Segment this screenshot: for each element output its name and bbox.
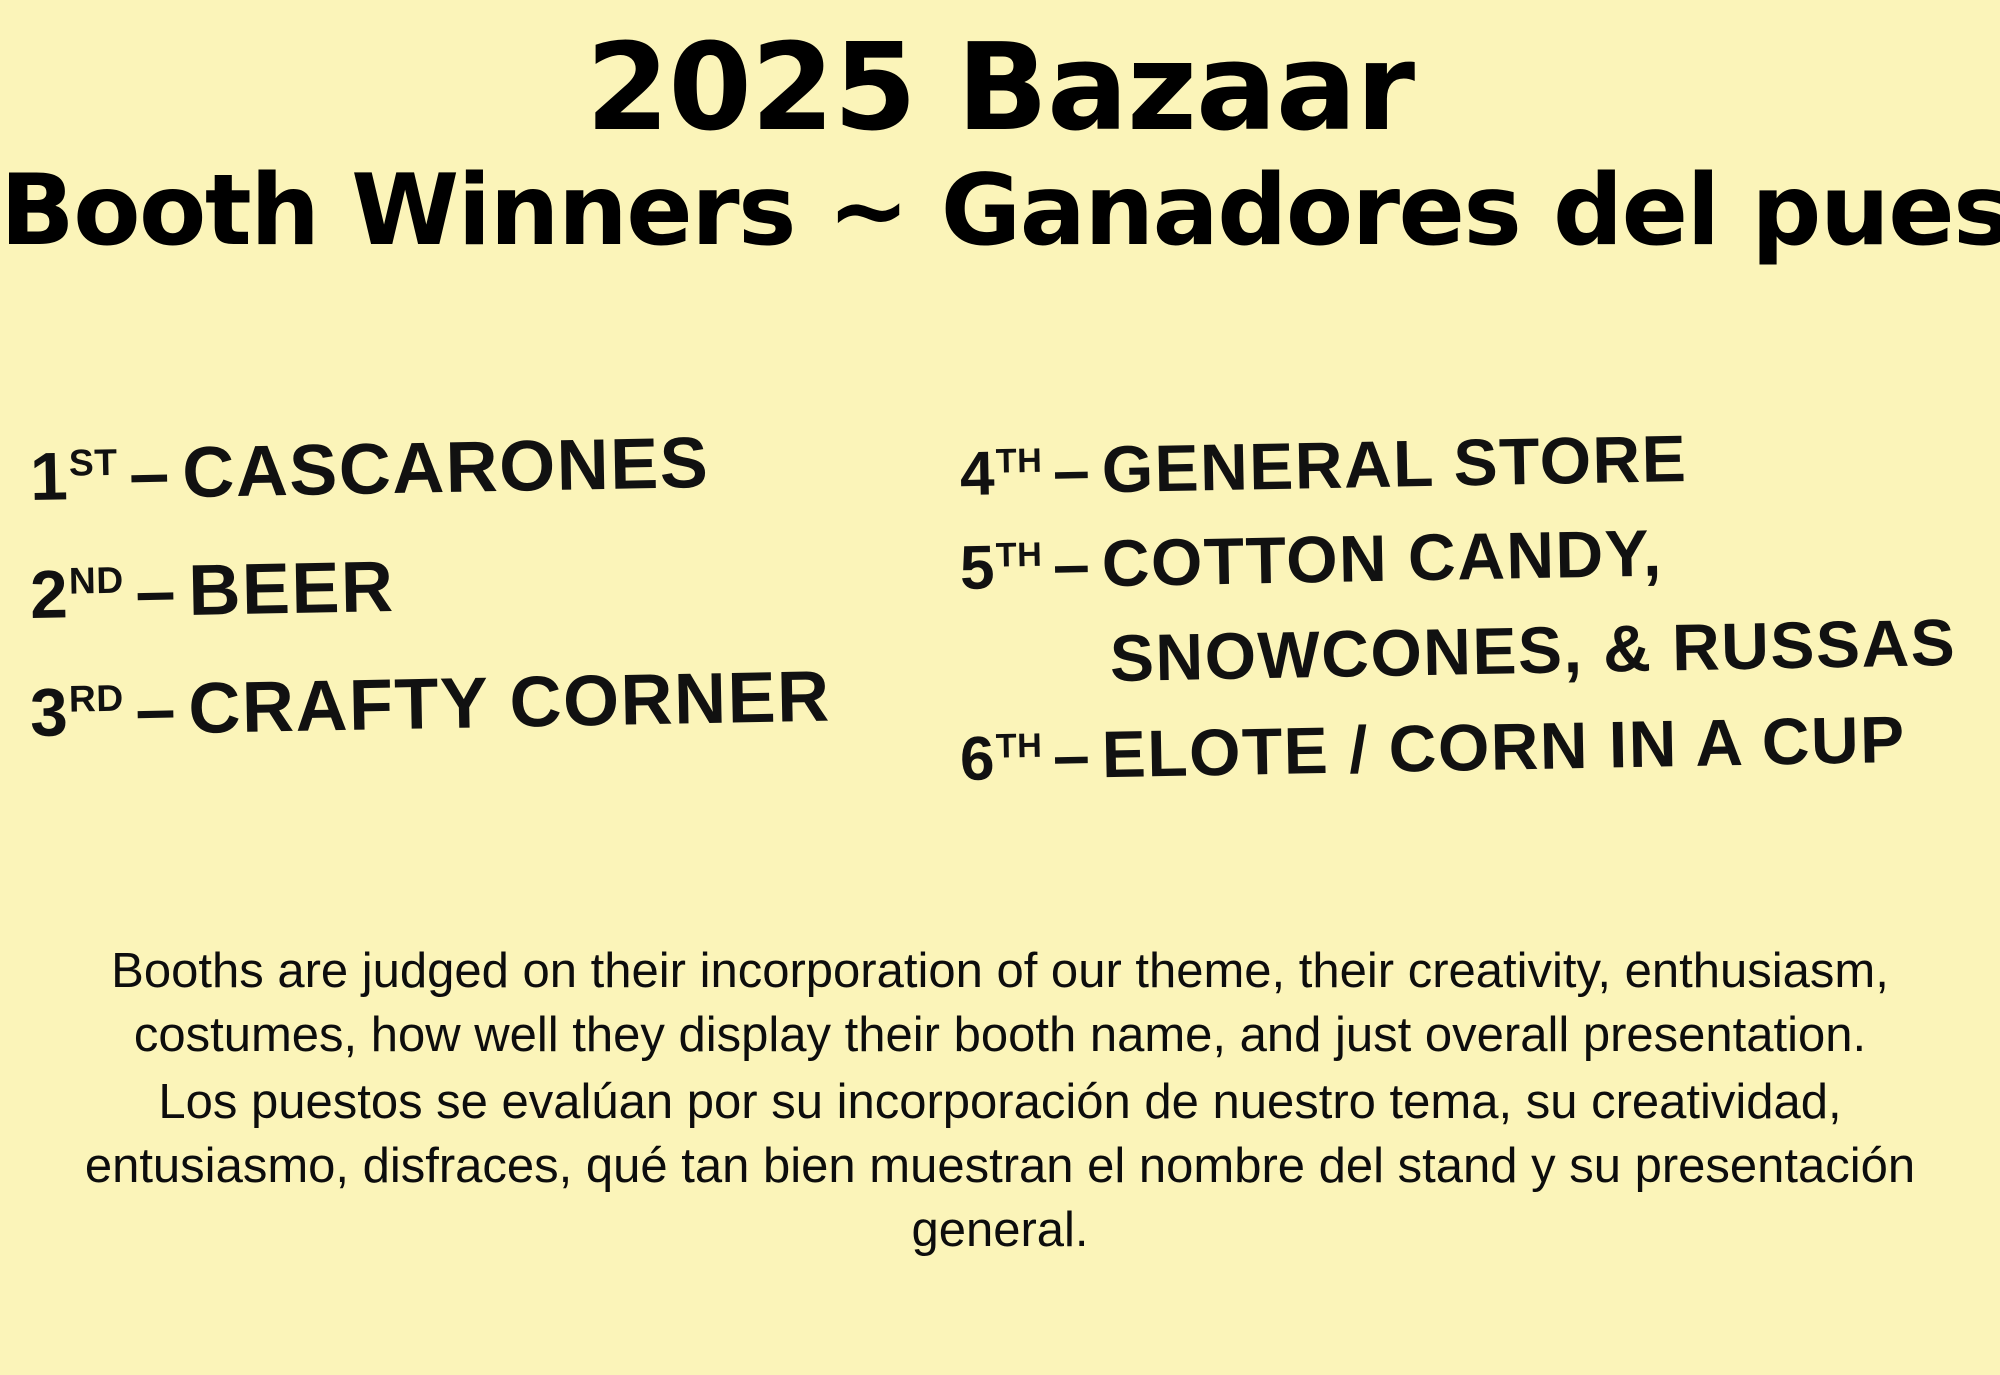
- bazaar-winners-poster: 2025 Bazaar Booth Winners ~ Ganadores de…: [0, 0, 2000, 1375]
- list-item: 5TH–COTTON CANDY,: [959, 505, 1990, 609]
- place-suffix: TH: [995, 442, 1042, 481]
- place-ordinal: 6TH: [959, 724, 1043, 795]
- poster-heading: 2025 Bazaar Booth Winners ~ Ganadores de…: [0, 0, 2000, 263]
- list-item: 1ST–CASCARONES: [29, 412, 951, 522]
- place-number: 5: [959, 534, 996, 604]
- judging-notes: Booths are judged on their incorporation…: [80, 940, 1920, 1262]
- place-number: 6: [959, 725, 996, 795]
- list-item: 6TH–ELOTE / CORN IN A CUP: [959, 696, 1990, 800]
- place-suffix: ND: [68, 559, 124, 602]
- judging-criteria-spanish: Los puestos se evalúan por su incorporac…: [80, 1071, 1920, 1262]
- booth-name: CASCARONES: [181, 423, 710, 513]
- separator-dash: –: [1042, 718, 1103, 793]
- page-title: 2025 Bazaar: [0, 0, 2000, 150]
- place-ordinal: 2ND: [29, 556, 124, 633]
- place-suffix: RD: [68, 677, 124, 720]
- separator-dash: –: [1042, 527, 1103, 602]
- separator-dash: –: [1042, 432, 1103, 507]
- winners-column-left: 1ST–CASCARONES 2ND–BEER 3RD–CRAFTY CORNE…: [30, 430, 950, 784]
- booth-name: GENERAL STORE: [1101, 421, 1688, 506]
- place-suffix: ST: [68, 441, 117, 484]
- place-suffix: TH: [995, 727, 1042, 766]
- winners-list: 1ST–CASCARONES 2ND–BEER 3RD–CRAFTY CORNE…: [0, 430, 2000, 860]
- place-number: 3: [29, 676, 70, 752]
- winners-column-right: 4TH–GENERAL STORE 5TH–COTTON CANDY, SNOW…: [960, 430, 1990, 810]
- booth-name: ELOTE / CORN IN A CUP: [1101, 702, 1906, 791]
- place-number: 2: [29, 557, 70, 633]
- booth-name-continuation: SNOWCONES, & RUSSAS: [959, 599, 1990, 703]
- booth-name: BEER: [188, 547, 396, 631]
- place-ordinal: 3RD: [29, 675, 124, 752]
- list-item: 4TH–GENERAL STORE: [959, 410, 1990, 514]
- booth-name: CRAFTY CORNER: [188, 657, 832, 749]
- list-item: 2ND–BEER: [29, 531, 951, 641]
- page-subtitle: Booth Winners ~ Ganadores del puesto: [0, 150, 2000, 263]
- place-ordinal: 4TH: [959, 438, 1043, 509]
- place-number: 1: [29, 439, 70, 515]
- place-suffix: TH: [995, 536, 1042, 575]
- place-ordinal: 1ST: [29, 438, 118, 515]
- separator-dash: –: [117, 433, 183, 514]
- booth-name: COTTON CANDY,: [1101, 516, 1663, 601]
- place-ordinal: 5TH: [959, 533, 1043, 604]
- list-item: 3RD–CRAFTY CORNER: [29, 649, 951, 759]
- separator-dash: –: [123, 669, 189, 750]
- separator-dash: –: [123, 551, 189, 632]
- place-number: 4: [959, 439, 996, 509]
- judging-criteria-english: Booths are judged on their incorporation…: [80, 940, 1920, 1067]
